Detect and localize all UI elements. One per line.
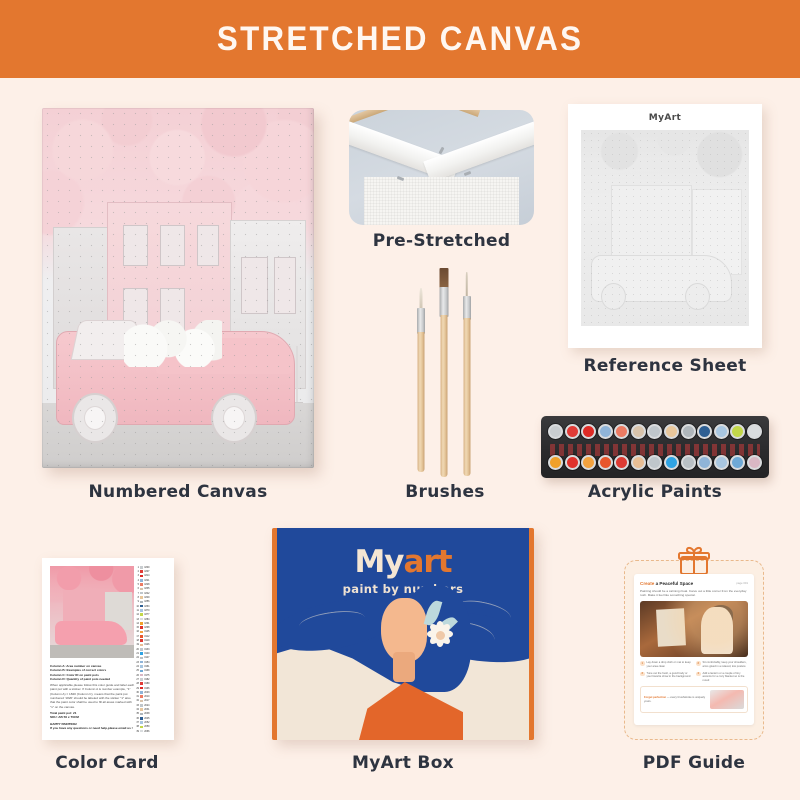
swatch-number: 28: [134, 682, 139, 685]
swatch-number: 1: [134, 566, 139, 569]
logo-text-my: My: [354, 544, 403, 580]
swatch-row: 121877: [134, 613, 168, 616]
swatch-color: [140, 652, 143, 655]
swatch-row: 181919: [134, 639, 168, 642]
swatch-number: 31: [134, 695, 139, 698]
swatch-code: 1996: [144, 687, 149, 690]
tip-number: 1: [640, 661, 645, 666]
paint-pot: [565, 424, 580, 439]
paint-row-bottom: [548, 452, 762, 473]
swatch-row: 11800: [134, 566, 168, 569]
swatch-number: 27: [134, 678, 139, 681]
swatch-code: 2066: [144, 730, 149, 733]
caption-reference-sheet: Reference Sheet: [568, 356, 762, 376]
swatch-row: 201933: [134, 648, 168, 651]
paint-pot: [614, 424, 629, 439]
swatch-number: 23: [134, 661, 139, 664]
page-title: STRETCHED CANVAS: [217, 20, 583, 59]
swatch-row: 221947: [134, 657, 168, 660]
swatch-code: 2045: [144, 717, 149, 720]
tip-text: Lay down a drop cloth or mat to keep you…: [647, 661, 693, 668]
swatch-number: 11: [134, 609, 139, 612]
color-card-swatch-table: 1180021807318144182151828618357184281849…: [134, 566, 168, 733]
swatch-color: [140, 674, 143, 677]
swatch-row: 291996: [134, 687, 168, 690]
swatch-code: 1800: [144, 566, 149, 569]
paint-row-top: [548, 421, 762, 442]
swatch-row: 352038: [134, 713, 168, 716]
swatch-number: 22: [134, 656, 139, 659]
pdf-tip: 3 Tune out the hush, a good body or your…: [640, 672, 692, 683]
swatch-code: 1835: [144, 587, 149, 590]
swatch-number: 32: [134, 699, 139, 702]
swatch-code: 1912: [144, 635, 149, 638]
swatch-row: 71842: [134, 592, 168, 595]
brush-handle: [440, 315, 447, 477]
swatch-row: 362045: [134, 717, 168, 720]
tip-text: Tune out the hush, a good body or your f…: [647, 672, 693, 683]
swatch-code: 1814: [144, 574, 149, 577]
swatch-color: [140, 691, 143, 694]
swatch-color: [140, 639, 143, 642]
swatch-color: [140, 704, 143, 707]
pdf-photo: [640, 601, 748, 657]
box-front-panel: Myart paint by numbers: [277, 528, 529, 740]
color-card-image: Column A: Area number on canvas Column B…: [42, 558, 174, 740]
pdf-tip: 2 Sit comfortably, keep your shoulders, …: [696, 661, 748, 668]
swatch-row: 101863: [134, 605, 168, 608]
swatch-number: 36: [134, 717, 139, 720]
tip-text: Add a lantern or a couple of tiny accent…: [703, 672, 749, 683]
paint-pot: [730, 455, 745, 470]
swatch-color: [140, 670, 143, 673]
instruction-paragraph: When applicable,please follow this color…: [50, 683, 136, 709]
daisy-flower-icon: [425, 620, 455, 650]
swatch-number: 12: [134, 613, 139, 616]
reference-sheet-image: MyArt: [568, 104, 762, 348]
paint-pot: [598, 455, 613, 470]
swatch-color: [140, 644, 143, 647]
swatch-row: 161905: [134, 631, 168, 634]
box-stripe-right: [529, 528, 534, 740]
brush-handle: [463, 318, 470, 476]
paint-pot: [747, 424, 762, 439]
paint-pot: [647, 455, 662, 470]
tip-text: Sit comfortably, keep your shoulders, ar…: [703, 661, 749, 668]
pdf-heading: Create a Peaceful Space: [640, 581, 748, 586]
photo-warm-glow: [640, 601, 748, 657]
swatch-color: [140, 626, 143, 629]
brush-bristles: [419, 288, 422, 310]
swatch-row: 312010: [134, 695, 168, 698]
brush-ferrule: [463, 296, 471, 320]
caption-brushes: Brushes: [370, 482, 520, 502]
paint-pot: [565, 455, 580, 470]
brush-ferrule: [439, 287, 448, 317]
tip-number: 4: [696, 672, 701, 677]
pdf-note: Forget perfection — every brushstroke is…: [640, 686, 748, 713]
swatch-code: 2003: [144, 691, 149, 694]
paint-pot: [581, 424, 596, 439]
swatch-number: 24: [134, 665, 139, 668]
swatch-color: [140, 713, 143, 716]
swatch-number: 39: [134, 730, 139, 733]
swatch-number: 34: [134, 708, 139, 711]
pdf-note-accent: Forget perfection: [644, 696, 666, 699]
swatch-color: [140, 700, 143, 703]
swatch-code: 1856: [144, 600, 149, 603]
swatch-color: [140, 566, 143, 569]
brush-bristles: [465, 272, 468, 298]
swatch-row: 141891: [134, 622, 168, 625]
swatch-color: [140, 596, 143, 599]
paint-pot: [614, 455, 629, 470]
swatch-number: 17: [134, 635, 139, 638]
swatch-number: 5: [134, 583, 139, 586]
swatch-number: 26: [134, 674, 139, 677]
pre-stretched-image: [349, 110, 534, 225]
swatch-code: 1961: [144, 665, 149, 668]
swatch-code: 1870: [144, 609, 149, 612]
swatch-row: 322017: [134, 700, 168, 703]
tip-number: 3: [640, 672, 645, 677]
swatch-code: 1905: [144, 630, 149, 633]
swatch-color: [140, 726, 143, 729]
swatch-number: 38: [134, 725, 139, 728]
paint-pot: [697, 455, 712, 470]
paint-pot: [631, 424, 646, 439]
swatch-color: [140, 678, 143, 681]
swatch-row: 392066: [134, 730, 168, 733]
pdf-tips-list: 1 Lay down a drop cloth or mat to keep y…: [640, 661, 748, 682]
swatch-code: 1954: [144, 661, 149, 664]
swatch-row: 332024: [134, 704, 168, 707]
swatch-row: 382059: [134, 726, 168, 729]
caption-pre-stretched: Pre-Stretched: [349, 231, 534, 251]
swatch-color: [140, 579, 143, 582]
myart-logo: Myart paint by numbers: [277, 544, 529, 596]
caption-myart-box: MyArt Box: [272, 753, 534, 773]
pdf-guide-image: page 001 Create a Peaceful Space Paintin…: [624, 560, 764, 740]
swatch-code: 2059: [144, 725, 149, 728]
swatch-code: 1940: [144, 652, 149, 655]
swatch-code: 1863: [144, 605, 149, 608]
swatch-number: 19: [134, 643, 139, 646]
canvas-weave-back: [364, 177, 519, 225]
swatch-code: 1821: [144, 579, 149, 582]
swatch-row: 131884: [134, 618, 168, 621]
paint-pot: [714, 424, 729, 439]
swatch-row: 191926: [134, 644, 168, 647]
paint-pot: [697, 424, 712, 439]
swatch-color: [140, 695, 143, 698]
pdf-heading-accent: Create: [640, 581, 654, 586]
swatch-number: 37: [134, 721, 139, 724]
sku-line: SKU: AB 50 x 70CM: [50, 715, 136, 719]
reference-sheet-logo: MyArt: [568, 113, 762, 123]
color-card-instructions: Column A: Area number on canvas Column B…: [50, 664, 136, 730]
swatch-color: [140, 708, 143, 711]
swatch-row: 21807: [134, 570, 168, 573]
swatch-code: 1898: [144, 626, 149, 629]
swatch-number: 8: [134, 596, 139, 599]
brush-handle: [417, 332, 424, 472]
girl-neck: [393, 652, 415, 682]
swatch-code: 2024: [144, 704, 149, 707]
swatch-row: 281989: [134, 682, 168, 685]
caption-numbered-canvas: Numbered Canvas: [42, 482, 314, 502]
swatch-row: 91856: [134, 601, 168, 604]
swatch-row: 211940: [134, 652, 168, 655]
paint-pot: [647, 424, 662, 439]
swatch-color: [140, 570, 143, 573]
swatch-row: 302003: [134, 691, 168, 694]
swatch-row: 41821: [134, 579, 168, 582]
logo-text-art: art: [404, 544, 452, 580]
swatch-number: 2: [134, 570, 139, 573]
swatch-color: [140, 592, 143, 595]
swatch-row: 151898: [134, 626, 168, 629]
swatch-code: 1989: [144, 682, 149, 685]
pdf-heading-rest: a Peaceful Space: [654, 581, 693, 586]
swatch-color: [140, 665, 143, 668]
stretcher-bar-wood-right: [349, 110, 472, 124]
swatch-row: 241961: [134, 665, 168, 668]
swatch-row: 231954: [134, 661, 168, 664]
swatch-code: 1975: [144, 674, 149, 677]
paint-pot: [664, 455, 679, 470]
swatch-row: 271982: [134, 678, 168, 681]
swatch-code: 1968: [144, 669, 149, 672]
swatch-number: 18: [134, 639, 139, 642]
swatch-number: 14: [134, 622, 139, 625]
pdf-page-number: page 001: [736, 581, 748, 585]
paint-pot: [681, 455, 696, 470]
myart-box-image: Myart paint by numbers: [272, 528, 534, 740]
swatch-code: 2017: [144, 699, 149, 702]
swatch-number: 35: [134, 712, 139, 715]
paint-pot: [598, 424, 613, 439]
support-line: If you have any questions or need help,p…: [50, 726, 136, 730]
swatch-code: 1849: [144, 596, 149, 599]
caption-acrylic-paints: Acrylic Paints: [541, 482, 769, 502]
logo-tagline: paint by numbers: [277, 582, 529, 596]
swatch-row: 342031: [134, 708, 168, 711]
color-card-road: [50, 645, 134, 658]
swatch-color: [140, 721, 143, 724]
canvas-edge-shadow: [42, 108, 314, 468]
swatch-color: [140, 583, 143, 586]
swatch-code: 2031: [144, 708, 149, 711]
page-header: STRETCHED CANVAS: [0, 0, 800, 78]
paint-pot: [714, 455, 729, 470]
swatch-color: [140, 730, 143, 733]
swatch-code: 1891: [144, 622, 149, 625]
swatch-code: 2052: [144, 721, 149, 724]
swatch-color: [140, 661, 143, 664]
instruction-line: Column D: Quantity of paint pots needed: [50, 677, 136, 681]
swatch-color: [140, 657, 143, 660]
swatch-number: 10: [134, 605, 139, 608]
swatch-row: 61835: [134, 588, 168, 591]
swatch-code: 1982: [144, 678, 149, 681]
swatch-color: [140, 717, 143, 720]
swatch-code: 1947: [144, 656, 149, 659]
acrylic-paints-tray: [541, 416, 769, 478]
swatch-number: 33: [134, 704, 139, 707]
swatch-color: [140, 618, 143, 621]
swatch-number: 21: [134, 652, 139, 655]
numbered-canvas-image: [42, 108, 314, 468]
swatch-row: 251968: [134, 670, 168, 673]
brush-ferrule: [417, 308, 425, 334]
staple-icon: [463, 171, 471, 176]
swatch-code: 1926: [144, 643, 149, 646]
swatch-number: 9: [134, 600, 139, 603]
swatch-number: 25: [134, 669, 139, 672]
swatch-code: 1933: [144, 648, 149, 651]
swatch-color: [140, 605, 143, 608]
swatch-code: 2010: [144, 695, 149, 698]
pdf-tip: 4 Add a lantern or a couple of tiny acce…: [696, 672, 748, 683]
swatch-row: 111870: [134, 609, 168, 612]
swatch-row: 51828: [134, 583, 168, 586]
paint-pot: [747, 455, 762, 470]
swatch-color: [140, 622, 143, 625]
pdf-subtitle: Painting should be a calming ritual. Car…: [640, 589, 748, 598]
tip-number: 2: [696, 661, 701, 666]
swatch-number: 6: [134, 587, 139, 590]
swatch-number: 15: [134, 626, 139, 629]
swatch-number: 4: [134, 579, 139, 582]
swatch-row: 261975: [134, 674, 168, 677]
pdf-note-thumbnail: [710, 690, 744, 709]
swatch-number: 20: [134, 648, 139, 651]
paint-pot: [681, 424, 696, 439]
pdf-tip: 1 Lay down a drop cloth or mat to keep y…: [640, 661, 692, 668]
swatch-row: 171912: [134, 635, 168, 638]
swatch-color: [140, 601, 143, 604]
pdf-note-text: Forget perfection — every brushstroke is…: [644, 696, 707, 703]
swatch-number: 3: [134, 574, 139, 577]
caption-pdf-guide: PDF Guide: [624, 753, 764, 773]
paint-pot: [664, 424, 679, 439]
color-card-photo: [50, 566, 134, 658]
swatch-color: [140, 609, 143, 612]
paint-pot: [548, 424, 563, 439]
reference-sheet-artwork: [581, 130, 749, 326]
swatch-row: 31814: [134, 575, 168, 578]
caption-color-card: Color Card: [22, 753, 192, 773]
swatch-code: 1807: [144, 570, 149, 573]
swatch-color: [140, 613, 143, 616]
swatch-number: 16: [134, 630, 139, 633]
swatch-color: [140, 682, 143, 685]
swatch-row: 372052: [134, 721, 168, 724]
color-card-car: [55, 621, 127, 645]
swatch-color: [140, 648, 143, 651]
brush-bristles: [439, 268, 448, 288]
swatch-code: 1877: [144, 613, 149, 616]
swatch-row: 81849: [134, 596, 168, 599]
swatch-code: 1828: [144, 583, 149, 586]
swatch-color: [140, 631, 143, 634]
swatch-color: [140, 575, 143, 578]
swatch-code: 2038: [144, 712, 149, 715]
paint-pot: [581, 455, 596, 470]
swatch-number: 13: [134, 618, 139, 621]
swatch-number: 7: [134, 592, 139, 595]
reference-line-art-grain: [581, 130, 749, 326]
swatch-color: [140, 635, 143, 638]
paint-pot: [631, 455, 646, 470]
swatch-color: [140, 687, 143, 690]
swatch-color: [140, 588, 143, 591]
swatch-code: 1919: [144, 639, 149, 642]
pdf-page-content: page 001 Create a Peaceful Space Paintin…: [634, 574, 754, 725]
swatch-code: 1842: [144, 592, 149, 595]
paint-pot: [548, 455, 563, 470]
swatch-code: 1884: [144, 618, 149, 621]
swatch-number: 30: [134, 691, 139, 694]
swatch-number: 29: [134, 687, 139, 690]
paint-pot: [730, 424, 745, 439]
